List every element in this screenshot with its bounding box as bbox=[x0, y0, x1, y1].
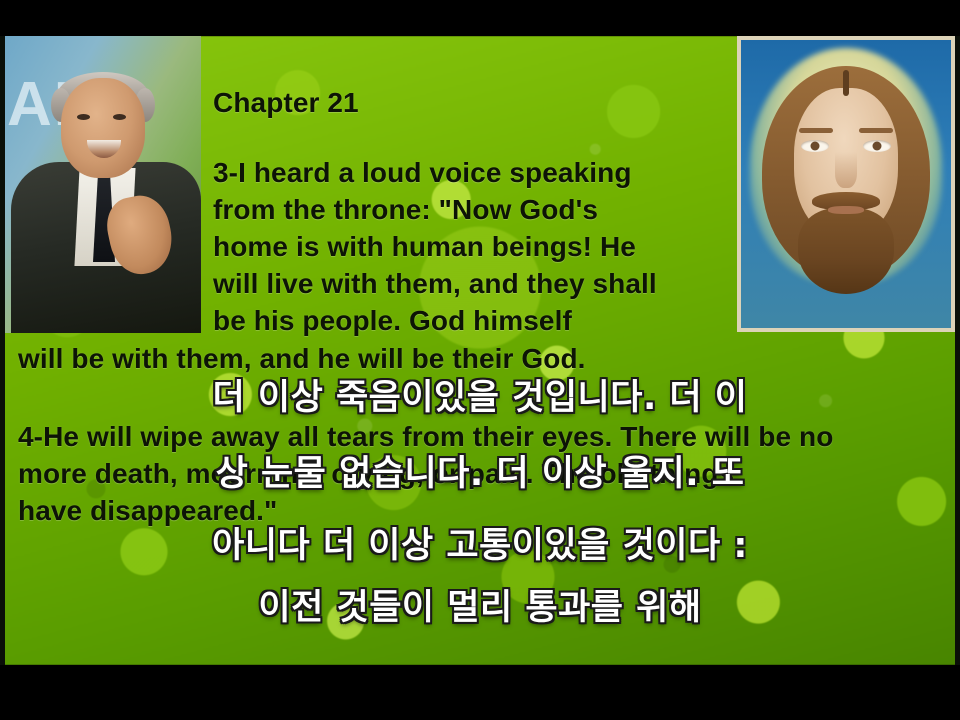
frame-edge-right bbox=[955, 36, 960, 665]
jesus-beard bbox=[798, 208, 894, 294]
video-frame: AM Chapter 21 3-I heard a loud voice spe… bbox=[0, 0, 960, 720]
jesus-brow-right bbox=[859, 128, 893, 133]
jesus-hair-part bbox=[843, 70, 849, 96]
jesus-eye-left bbox=[801, 140, 829, 152]
letterbox-bottom bbox=[0, 665, 960, 720]
letterbox-top bbox=[0, 0, 960, 36]
jesus-portrait-inset bbox=[737, 36, 955, 332]
jesus-mouth bbox=[828, 206, 864, 214]
preacher-photo-inset: AM bbox=[5, 36, 201, 333]
preacher-eye-right bbox=[113, 114, 126, 120]
jesus-eye-right bbox=[863, 140, 891, 152]
frame-edge-left bbox=[0, 36, 5, 665]
jesus-brow-left bbox=[799, 128, 833, 133]
preacher-head bbox=[61, 78, 145, 178]
jesus-nose bbox=[835, 152, 857, 188]
preacher-eye-left bbox=[77, 114, 90, 120]
